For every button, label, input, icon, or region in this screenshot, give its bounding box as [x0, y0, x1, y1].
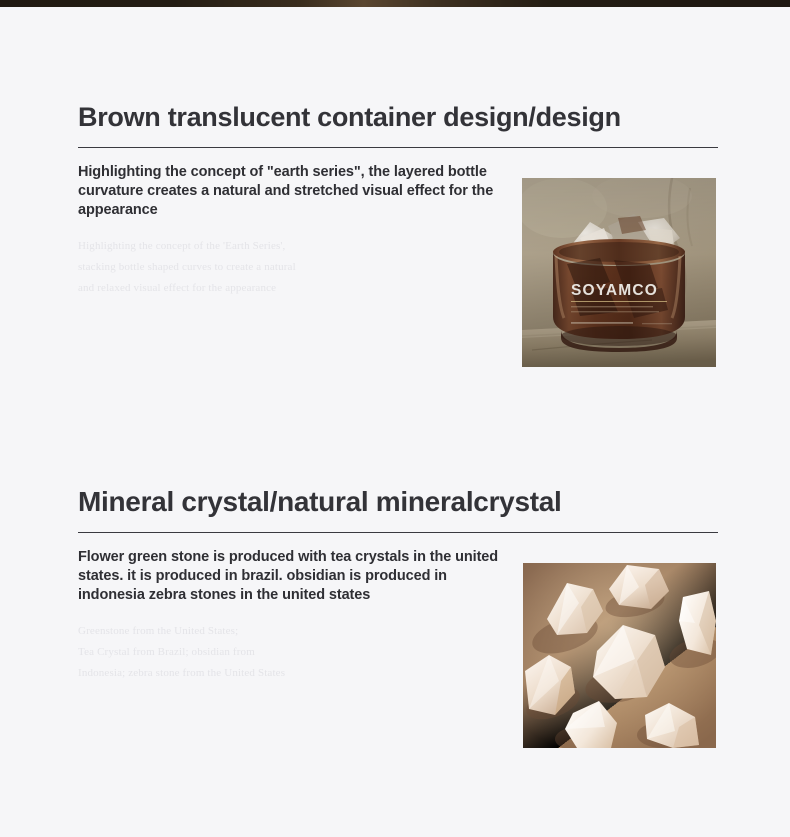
section-2-lede: Flower green stone is produced with tea …: [78, 548, 508, 605]
previous-image-bottom-edge: [0, 0, 790, 7]
brown-translucent-jar-photo: SOYAMCO: [522, 178, 716, 367]
faint-line: Highlighting the concept of the 'Earth S…: [78, 236, 508, 257]
section-1-heading: Brown translucent container design/desig…: [78, 100, 718, 134]
section-2-body: Flower green stone is produced with tea …: [78, 548, 508, 684]
product-detail-page: Brown translucent container design/desig…: [0, 7, 790, 837]
section-2-heading: Mineral crystal/natural mineralcrystal: [78, 485, 718, 519]
section-1-faint-text: Highlighting the concept of the 'Earth S…: [78, 236, 508, 299]
section-2-faint-text: Greenstone from the United States; Tea C…: [78, 621, 508, 684]
faint-line: Greenstone from the United States;: [78, 621, 508, 642]
section-1-body: Highlighting the concept of "earth serie…: [78, 163, 508, 299]
faint-line: stacking bottle shaped curves to create …: [78, 257, 508, 278]
section-1-divider: [78, 147, 718, 148]
faint-line: and relaxed visual effect for the appear…: [78, 278, 508, 299]
faint-line: Indonesia; zebra stone from the United S…: [78, 663, 508, 684]
mineral-crystals-photo: [523, 563, 716, 748]
section-1-lede: Highlighting the concept of "earth serie…: [78, 163, 508, 220]
section-2-divider: [78, 532, 718, 533]
faint-line: Tea Crystal from Brazil; obsidian from: [78, 642, 508, 663]
